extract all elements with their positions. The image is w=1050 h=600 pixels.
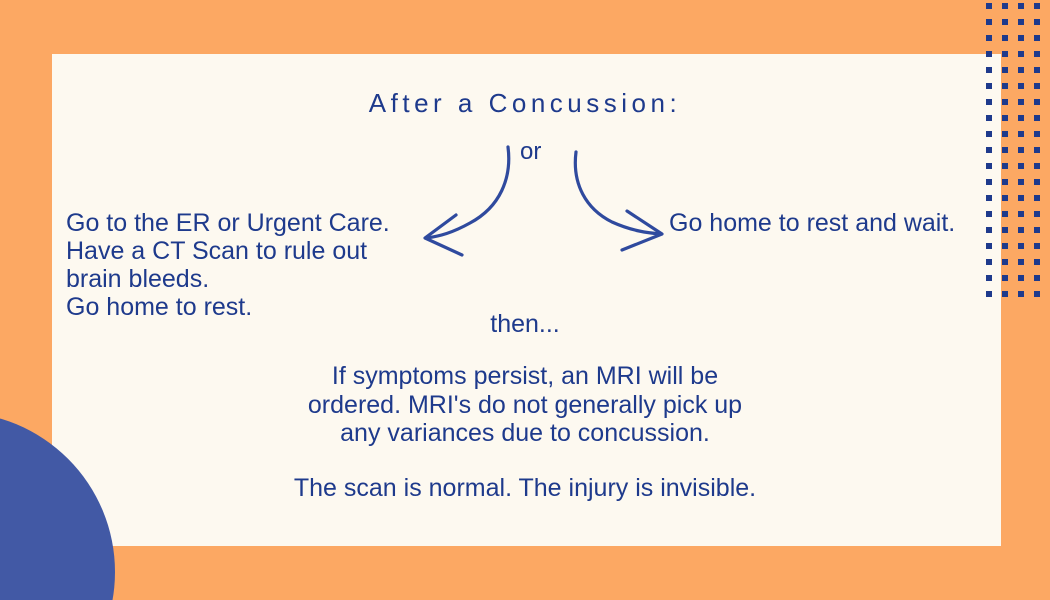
dot-grid-square xyxy=(1018,195,1024,201)
dot-grid-square xyxy=(1018,259,1024,265)
dot-grid-square xyxy=(986,275,992,281)
dot-grid-square xyxy=(1034,51,1040,57)
dot-grid-square xyxy=(986,131,992,137)
dot-grid-square xyxy=(1018,19,1024,25)
dot-grid-square xyxy=(1002,291,1008,297)
dot-grid-square xyxy=(1034,67,1040,73)
dot-grid-square xyxy=(1034,179,1040,185)
dot-grid-square xyxy=(1002,35,1008,41)
dot-grid-square xyxy=(1002,67,1008,73)
dot-grid-square xyxy=(1018,211,1024,217)
dot-grid-square xyxy=(986,51,992,57)
dot-grid-square xyxy=(986,147,992,153)
dot-grid-square xyxy=(986,243,992,249)
left-branch-text: Go to the ER or Urgent Care. Have a CT S… xyxy=(66,209,390,321)
dot-grid-square xyxy=(1034,19,1040,25)
dot-grid-square xyxy=(1018,35,1024,41)
dot-grid-square xyxy=(1002,179,1008,185)
dot-grid-square xyxy=(1018,3,1024,9)
dot-grid-square xyxy=(1034,275,1040,281)
dot-grid-square xyxy=(1034,211,1040,217)
dot-grid-square xyxy=(1034,147,1040,153)
dot-grid-square xyxy=(986,19,992,25)
dot-grid-square xyxy=(1002,195,1008,201)
dot-grid-square xyxy=(986,291,992,297)
dot-grid-square xyxy=(1018,227,1024,233)
dot-grid-square xyxy=(1002,259,1008,265)
dot-grid-square xyxy=(986,163,992,169)
dot-grid-square xyxy=(986,35,992,41)
dot-grid-square xyxy=(1002,19,1008,25)
dot-grid-square xyxy=(1002,51,1008,57)
dot-grid-square xyxy=(1034,291,1040,297)
dot-grid-square xyxy=(1034,195,1040,201)
dot-grid-square xyxy=(1002,163,1008,169)
dot-grid-square xyxy=(1018,275,1024,281)
dot-grid-square xyxy=(986,259,992,265)
dot-grid-square xyxy=(986,211,992,217)
dot-grid-square xyxy=(1018,163,1024,169)
dot-grid-square xyxy=(1034,243,1040,249)
dot-grid-square xyxy=(1002,275,1008,281)
then-label: then... xyxy=(0,310,1050,339)
dot-grid-decoration xyxy=(986,3,1050,303)
dot-grid-square xyxy=(1002,243,1008,249)
dot-grid-square xyxy=(1018,131,1024,137)
dot-grid-square xyxy=(1002,147,1008,153)
dot-grid-square xyxy=(986,179,992,185)
dot-grid-square xyxy=(1034,3,1040,9)
right-branch-text: Go home to rest and wait. xyxy=(669,209,955,238)
page-title: After a Concussion: xyxy=(0,88,1050,119)
branch-or-label: or xyxy=(520,138,541,166)
dot-grid-square xyxy=(986,67,992,73)
conclusion-text: The scan is normal. The injury is invisi… xyxy=(0,474,1050,503)
dot-grid-square xyxy=(986,3,992,9)
slide-canvas: After a Concussion: or Go to the ER or U… xyxy=(0,0,1050,600)
dot-grid-square xyxy=(1018,67,1024,73)
dot-grid-square xyxy=(1034,163,1040,169)
dot-grid-square xyxy=(1034,131,1040,137)
dot-grid-square xyxy=(986,195,992,201)
dot-grid-square xyxy=(986,227,992,233)
dot-grid-square xyxy=(1034,227,1040,233)
dot-grid-square xyxy=(1018,179,1024,185)
dot-grid-square xyxy=(1018,147,1024,153)
dot-grid-square xyxy=(1034,35,1040,41)
dot-grid-square xyxy=(1002,131,1008,137)
dot-grid-square xyxy=(1034,259,1040,265)
dot-grid-square xyxy=(1002,227,1008,233)
dot-grid-square xyxy=(1002,211,1008,217)
dot-grid-square xyxy=(1002,3,1008,9)
dot-grid-square xyxy=(1018,291,1024,297)
dot-grid-square xyxy=(1018,243,1024,249)
mri-paragraph: If symptoms persist, an MRI will be orde… xyxy=(0,362,1050,448)
dot-grid-square xyxy=(1018,51,1024,57)
